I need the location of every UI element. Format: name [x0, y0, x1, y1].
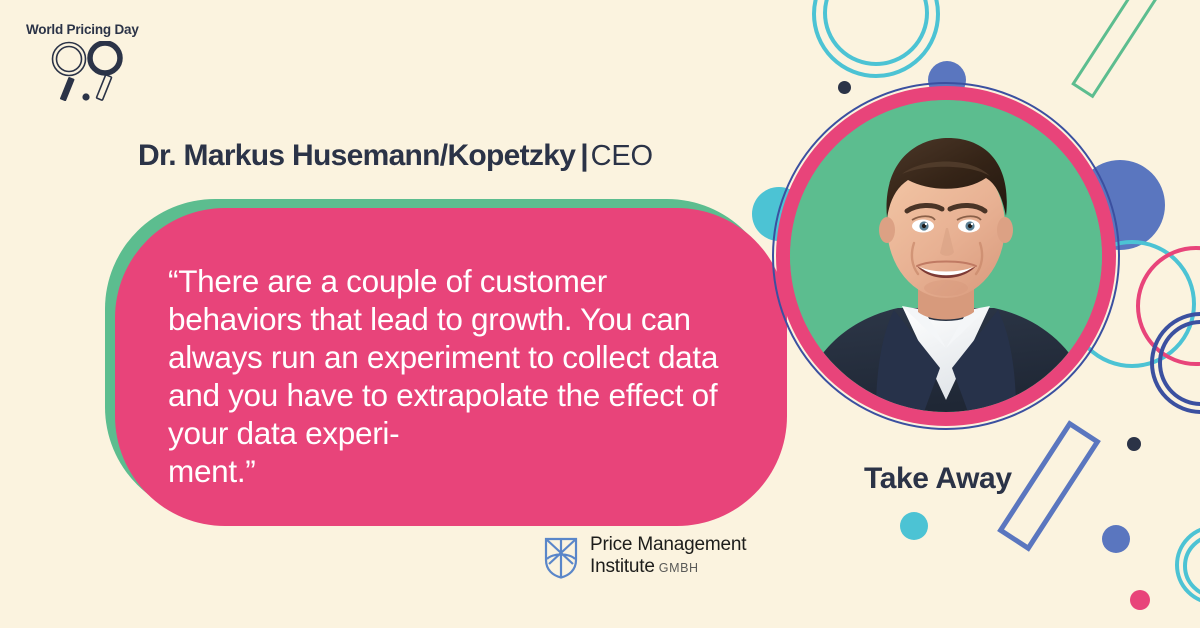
take-away-label: Take Away [864, 462, 1012, 496]
pmi-line2: Institute [590, 556, 655, 577]
quote-text: “There are a couple of customer behavior… [168, 262, 728, 490]
ring-pink-right [1136, 246, 1200, 366]
dot-cyan-bottom [900, 512, 928, 540]
bar-blue-bottomright [997, 420, 1101, 551]
poster-canvas: World Pricing Day Dr. Markus Husemann/Ko… [0, 0, 1200, 628]
ring-cyan-top-left-2 [812, 0, 940, 78]
dot-blue-bottom [1102, 525, 1130, 553]
ring-cyan-top-left [823, 0, 929, 66]
world-pricing-day-logo: World Pricing Day [26, 22, 196, 102]
price-management-institute-logo: Price Management InstituteGMBH [543, 534, 753, 586]
dot-pink-bottom [1130, 590, 1150, 610]
speaker-portrait [772, 82, 1120, 430]
dot-navy-right [1127, 437, 1141, 451]
portrait-photo [790, 100, 1102, 412]
speaker-name: Dr. Markus Husemann/Kopetzky [138, 139, 575, 172]
ring-indigo-right [1158, 320, 1200, 406]
pmi-suffix: GMBH [659, 561, 699, 575]
speaker-name-line: Dr. Markus Husemann/Kopetzky|CEO [138, 139, 653, 173]
shield-icon [543, 536, 579, 580]
world-pricing-day-title: World Pricing Day [26, 22, 196, 37]
name-separator: | [580, 139, 588, 172]
ring-indigo-right-2 [1150, 312, 1200, 414]
pmi-wordmark: Price Management InstituteGMBH [590, 534, 746, 579]
speaker-role: CEO [591, 140, 653, 172]
portrait-backdrop [790, 100, 1102, 412]
ring-cyan-bottom [1175, 525, 1200, 605]
pmi-line1: Price Management [590, 534, 746, 556]
percent-magnifier-mark [42, 41, 142, 101]
ring-cyan-bottom-2 [1183, 534, 1200, 598]
